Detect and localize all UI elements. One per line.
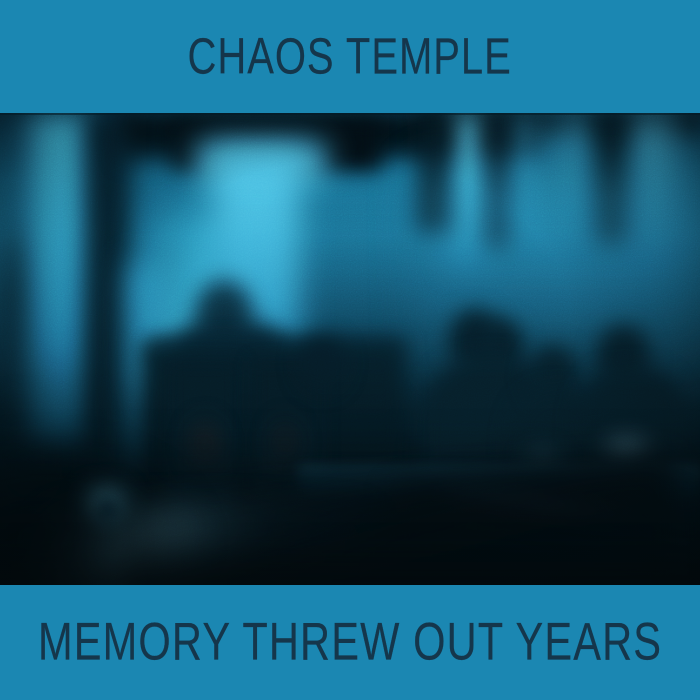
window-mullion-1 bbox=[418, 113, 452, 233]
standing-figure-shoulders bbox=[176, 321, 286, 369]
photo-wall-base bbox=[0, 113, 700, 585]
ceiling-beam bbox=[120, 113, 540, 165]
seated-figure-2-body bbox=[510, 389, 606, 509]
door-frame-column bbox=[86, 113, 130, 473]
window-mullion-2 bbox=[486, 113, 508, 248]
ceiling-shadow-right bbox=[430, 113, 700, 149]
artist-name-band: CHAOS TEMPLE bbox=[0, 0, 700, 113]
window-band-1 bbox=[452, 113, 482, 263]
foreground-ramp bbox=[40, 513, 370, 585]
photo-left-shadow-lower bbox=[0, 403, 56, 523]
ceiling-dark-panel bbox=[172, 119, 382, 171]
window-band-3 bbox=[560, 113, 594, 233]
distant-doorway-glow bbox=[82, 487, 130, 527]
distant-doorway-figure bbox=[96, 499, 120, 525]
shelf-warm-glow-right bbox=[268, 413, 302, 473]
photo-film-grain bbox=[0, 113, 700, 585]
album-title: MEMORY THREW OUT YEARS bbox=[38, 615, 662, 670]
photo-wall-upper-band bbox=[150, 123, 700, 353]
pale-pillar-cap bbox=[196, 141, 326, 181]
shelf-warm-glow-left bbox=[186, 413, 224, 475]
striped-stairs bbox=[390, 509, 690, 585]
standing-figure-head bbox=[196, 281, 252, 343]
photo-vignette bbox=[0, 113, 700, 585]
dark-shelf-object bbox=[140, 341, 405, 541]
artist-name: CHAOS TEMPLE bbox=[188, 30, 512, 83]
seated-figure-3-head bbox=[596, 325, 650, 385]
foreground-diagonal-mass bbox=[115, 454, 685, 585]
seated-figure-2-head bbox=[528, 345, 578, 403]
shelf-panel-right bbox=[252, 361, 322, 521]
photo-wall-right-haze bbox=[420, 173, 700, 413]
photo-left-shadow-upper bbox=[0, 223, 46, 403]
standing-figure-head-b bbox=[300, 337, 344, 389]
seated-figure-1-body bbox=[420, 357, 560, 507]
shelf-panel-left bbox=[168, 361, 240, 521]
photo-duotone-overlay bbox=[0, 113, 700, 585]
window-band-2 bbox=[508, 113, 534, 233]
photo-top-edge-line bbox=[0, 113, 700, 115]
seated-figure-3-body bbox=[576, 369, 684, 499]
foreground-ramp-highlight bbox=[64, 501, 217, 585]
window-mullion-3 bbox=[596, 113, 626, 243]
album-cover: CHAOS TEMPLE MEMORY THREW OUT YEARS bbox=[0, 0, 700, 700]
shelf-top-edge bbox=[150, 339, 400, 355]
seated-figure-1-head bbox=[448, 309, 502, 371]
bottom-shadow bbox=[0, 543, 700, 585]
cover-photograph bbox=[0, 113, 700, 585]
cyan-light-wedge bbox=[150, 213, 230, 393]
foreground-shadow-mass bbox=[0, 443, 700, 585]
pale-pillar bbox=[214, 151, 300, 451]
seated-figure-2-highlight bbox=[516, 445, 570, 471]
bottom-left-shadow bbox=[0, 443, 200, 585]
counter-front-face bbox=[280, 505, 700, 585]
stairs-top-edge bbox=[440, 486, 660, 527]
stairs-shadow-wedge bbox=[398, 493, 688, 585]
secondary-light-strip bbox=[128, 263, 162, 473]
counter-edge bbox=[300, 471, 700, 511]
counter-edge-highlight bbox=[300, 469, 700, 475]
seated-figure-1-head-b bbox=[478, 319, 524, 373]
seated-figure-3-highlight bbox=[596, 431, 658, 467]
doorway-light-strip-icon bbox=[30, 113, 92, 443]
window-band-4 bbox=[628, 113, 674, 288]
album-title-band: MEMORY THREW OUT YEARS bbox=[0, 585, 700, 700]
